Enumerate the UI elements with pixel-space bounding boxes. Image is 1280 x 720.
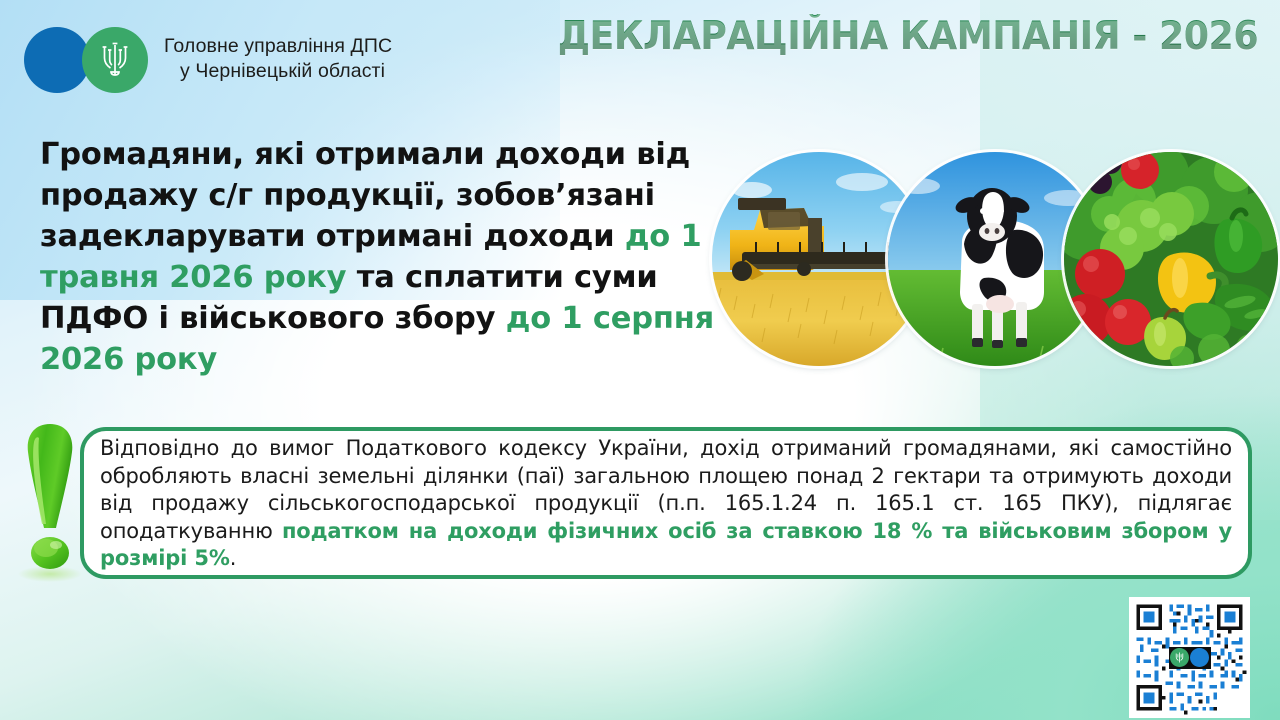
trident-small-icon (1175, 651, 1184, 664)
organization-name-line2: у Чернівецькій області (164, 59, 392, 85)
organization-name-line1: Головне управління ДПС (164, 35, 392, 57)
headline-part-1: Громадяни, які отримали доходи від прода… (40, 137, 690, 254)
headline-text: Громадяни, які отримали доходи від прода… (40, 134, 720, 380)
dps-blue-circle-icon (24, 27, 90, 93)
campaign-title: ДЕКЛАРАЦІЙНА КАМПАНІЯ - 2026 (558, 14, 1258, 59)
logo-circles (24, 24, 160, 94)
info-text-part-2: . (230, 546, 237, 570)
trident-icon (100, 41, 130, 79)
info-box-text: Відповідно до вимог Податкового кодексу … (100, 435, 1232, 573)
qr-badge-trident-icon (1170, 648, 1189, 667)
qr-badge-blue-dot-icon (1190, 648, 1209, 667)
exclamation-mark-icon (12, 418, 88, 584)
exclamation-mark-graphic (12, 418, 88, 584)
vegetables-illustration (1064, 152, 1278, 366)
organization-name: Головне управління ДПС у Чернівецькій об… (164, 8, 392, 111)
dps-green-circle-icon (82, 27, 148, 93)
info-box: Відповідно до вимог Податкового кодексу … (80, 427, 1252, 579)
qr-center-badge (1169, 647, 1211, 669)
page-header: Головне управління ДПС у Чернівецькій об… (0, 0, 1280, 86)
photo-circles-group (706, 144, 1276, 376)
qr-code[interactable] (1129, 597, 1250, 718)
fresh-vegetables-and-fruits-photo (1064, 152, 1278, 366)
organization-logo-block: Головне управління ДПС у Чернівецькій об… (24, 8, 392, 111)
